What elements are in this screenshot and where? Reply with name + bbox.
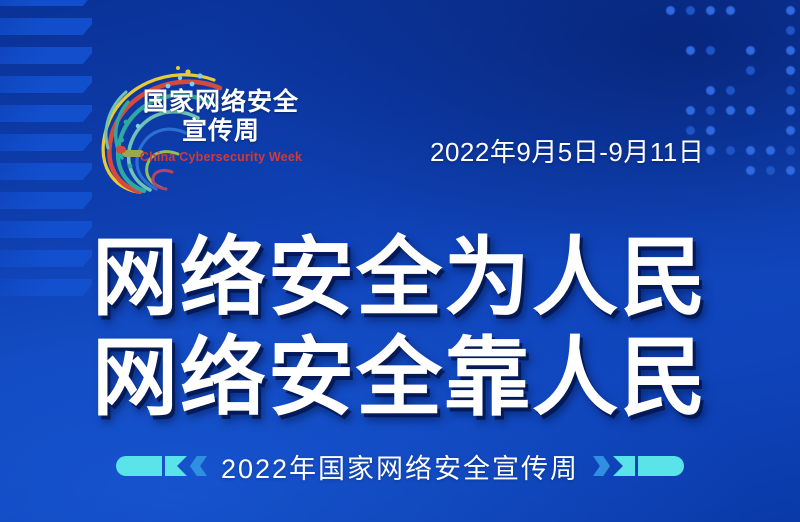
- decor-dot: [726, 146, 735, 155]
- stripe-bar: [0, 105, 92, 122]
- decor-dot: [706, 146, 715, 155]
- stripe-bar: [0, 18, 92, 35]
- decor-dot: [686, 106, 695, 115]
- bottom-ribbon: 2022年国家网络安全宣传周: [0, 446, 800, 486]
- decor-dot: [686, 46, 695, 55]
- decor-dot: [666, 6, 675, 15]
- decor-dot: [726, 86, 735, 95]
- pill-left-shape: [116, 456, 162, 476]
- decor-dot: [746, 46, 755, 55]
- headline: 网络安全为人民 网络安全靠人民: [0, 228, 800, 428]
- ribbon-title: 2022年国家网络安全宣传周: [221, 447, 579, 486]
- decor-dot: [786, 26, 795, 35]
- decor-dot: [766, 146, 775, 155]
- decor-dot: [746, 166, 755, 175]
- decor-dot: [766, 166, 775, 175]
- decor-dot: [686, 6, 695, 15]
- decor-dot: [786, 126, 795, 135]
- decor-dot: [706, 46, 715, 55]
- pill-right-shape: [638, 456, 684, 476]
- chevron-right-icon: [593, 456, 610, 476]
- logo-english-text: China Cybersecurity Week: [138, 150, 304, 164]
- stripe-bar: [0, 163, 92, 180]
- decor-dot: [786, 146, 795, 155]
- decor-dot: [786, 6, 795, 15]
- decor-dot: [706, 106, 715, 115]
- decor-dot: [746, 146, 755, 155]
- ribbon-right-decor: [593, 456, 684, 476]
- stripe-bar: [0, 76, 92, 93]
- stripe-bar: [0, 134, 92, 151]
- headline-line-1: 网络安全为人民: [0, 228, 800, 328]
- notch-left-shape: [165, 456, 187, 476]
- notch-right-shape: [613, 456, 635, 476]
- headline-line-2: 网络安全靠人民: [0, 328, 800, 428]
- decor-dot: [786, 166, 795, 175]
- decor-dot: [786, 86, 795, 95]
- poster-canvas: 国家网络安全 宣传周 China Cybersecurity Week 2022…: [0, 0, 800, 522]
- decor-dot: [746, 66, 755, 75]
- decor-dot: [706, 6, 715, 15]
- decor-dot: [706, 86, 715, 95]
- stripe-bar: [0, 192, 92, 209]
- event-date: 2022年9月5日-9月11日: [430, 132, 704, 169]
- decor-dot: [786, 106, 795, 115]
- decor-dot: [726, 6, 735, 15]
- decor-dot: [746, 106, 755, 115]
- ribbon-left-decor: [116, 456, 207, 476]
- decor-dot: [726, 106, 735, 115]
- decor-dot: [786, 66, 795, 75]
- logo-line-1: 国家网络安全: [138, 88, 304, 117]
- logo-line-2: 宣传周: [138, 117, 304, 146]
- decor-dot: [706, 126, 715, 135]
- decor-dot: [786, 46, 795, 55]
- chevron-left-icon: [190, 456, 207, 476]
- logo-chinese-text: 国家网络安全 宣传周: [138, 88, 304, 146]
- logo: 国家网络安全 宣传周 China Cybersecurity Week: [92, 62, 304, 194]
- stripe-bar: [0, 0, 92, 6]
- stripe-bar: [0, 47, 92, 64]
